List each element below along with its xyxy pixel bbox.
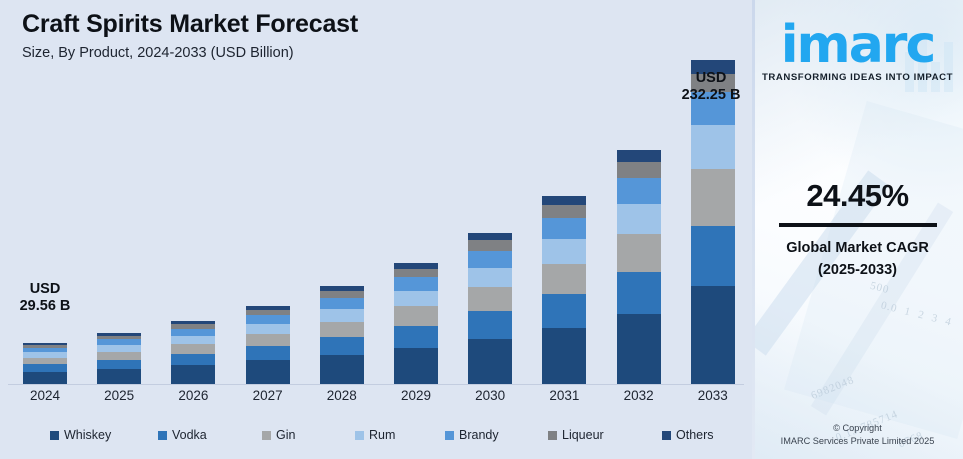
first-bar-value-label: USD 29.56 B [0, 281, 93, 315]
bar-2029[interactable] [394, 263, 438, 384]
bar-segment-whiskey[interactable] [320, 355, 364, 384]
legend-label-brandy: Brandy [459, 428, 499, 442]
bar-segment-rum[interactable] [691, 125, 735, 170]
bar-segment-vodka[interactable] [394, 326, 438, 348]
legend-swatch-gin [262, 431, 271, 440]
bar-segment-vodka[interactable] [171, 354, 215, 365]
bar-segment-gin[interactable] [468, 287, 512, 311]
legend-item-gin[interactable]: Gin [262, 428, 295, 442]
page-subtitle: Size, By Product, 2024-2033 (USD Billion… [22, 45, 294, 61]
copyright-line-1: © Copyright [752, 422, 963, 435]
chart-panel: Craft Spirits Market Forecast Size, By P… [0, 0, 752, 459]
legend-label-rum: Rum [369, 428, 395, 442]
bar-segment-whiskey[interactable] [394, 348, 438, 384]
bar-2030[interactable] [468, 233, 512, 384]
bar-segment-rum[interactable] [468, 268, 512, 288]
bar-segment-liqueur[interactable] [468, 240, 512, 251]
bar-segment-whiskey[interactable] [691, 286, 735, 384]
legend-item-rum[interactable]: Rum [355, 428, 395, 442]
bar-segment-whiskey[interactable] [171, 365, 215, 384]
legend-item-liqueur[interactable]: Liqueur [548, 428, 604, 442]
brand-panel: 500 0.0 1 2 3 4 6982048 0.15 785714 0768… [752, 0, 963, 459]
bar-segment-vodka[interactable] [23, 364, 67, 371]
bar-segment-gin[interactable] [691, 169, 735, 226]
bar-segment-liqueur[interactable] [617, 162, 661, 178]
bar-segment-whiskey[interactable] [468, 339, 512, 384]
bar-segment-gin[interactable] [542, 264, 586, 294]
plot-area: USD 29.56 B USD 232.25 B [0, 60, 752, 385]
bar-segment-brandy[interactable] [171, 329, 215, 336]
bar-segment-vodka[interactable] [320, 337, 364, 355]
legend-swatch-others [662, 431, 671, 440]
bar-segment-gin[interactable] [23, 358, 67, 365]
bar-segment-rum[interactable] [542, 239, 586, 263]
bar-2032[interactable] [617, 150, 661, 384]
bar-segment-vodka[interactable] [542, 294, 586, 328]
bar-segment-gin[interactable] [617, 234, 661, 271]
bar-segment-gin[interactable] [171, 344, 215, 354]
legend-label-others: Others [676, 428, 714, 442]
bar-2027[interactable] [246, 306, 290, 384]
bar-2024[interactable] [23, 343, 67, 384]
legend-swatch-liqueur [548, 431, 557, 440]
bar-segment-brandy[interactable] [320, 298, 364, 309]
bar-segment-gin[interactable] [320, 322, 364, 338]
bar-segment-vodka[interactable] [97, 360, 141, 369]
chart-legend: WhiskeyVodkaGinRumBrandyLiqueurOthers [0, 428, 752, 452]
x-axis-tick-2033: 2033 [665, 388, 761, 403]
legend-label-liqueur: Liqueur [562, 428, 604, 442]
bar-segment-vodka[interactable] [246, 346, 290, 360]
bar-segment-rum[interactable] [246, 324, 290, 334]
legend-label-vodka: Vodka [172, 428, 207, 442]
bar-segment-whiskey[interactable] [97, 369, 141, 384]
bar-segment-whiskey[interactable] [246, 360, 290, 384]
cagr-label: Global Market CAGR [752, 237, 963, 259]
bar-segment-rum[interactable] [394, 291, 438, 307]
imarc-logo: imarc TRANSFORMING IDEAS INTO IMPACT [752, 20, 963, 83]
bar-2033[interactable] [691, 60, 735, 384]
bar-2028[interactable] [320, 286, 364, 384]
bar-segment-vodka[interactable] [617, 272, 661, 314]
bar-segment-liqueur[interactable] [394, 269, 438, 278]
bar-segment-brandy[interactable] [468, 251, 512, 268]
bar-segment-gin[interactable] [394, 306, 438, 325]
bar-segment-whiskey[interactable] [23, 372, 67, 384]
cagr-period: (2025-2033) [752, 259, 963, 281]
legend-item-brandy[interactable]: Brandy [445, 428, 499, 442]
bar-segment-brandy[interactable] [617, 178, 661, 204]
bar-segment-rum[interactable] [171, 336, 215, 344]
bar-segment-others[interactable] [542, 196, 586, 205]
bar-2026[interactable] [171, 321, 215, 384]
legend-swatch-rum [355, 431, 364, 440]
x-axis: 2024202520262027202820292030203120322033 [0, 386, 752, 412]
bar-segment-others[interactable] [617, 150, 661, 162]
logo-wordmark: imarc [781, 20, 935, 70]
axis-baseline [8, 384, 744, 385]
legend-swatch-brandy [445, 431, 454, 440]
bar-2031[interactable] [542, 196, 586, 384]
cagr-block: 24.45% Global Market CAGR (2025-2033) [752, 178, 963, 281]
bar-segment-rum[interactable] [97, 345, 141, 352]
legend-label-whiskey: Whiskey [64, 428, 111, 442]
legend-item-others[interactable]: Others [662, 428, 714, 442]
bar-segment-liqueur[interactable] [542, 205, 586, 218]
bar-2025[interactable] [97, 333, 141, 384]
bar-segment-brandy[interactable] [542, 218, 586, 239]
bar-segment-gin[interactable] [246, 334, 290, 347]
legend-item-whiskey[interactable]: Whiskey [50, 428, 111, 442]
bar-segment-vodka[interactable] [691, 226, 735, 286]
bar-segment-brandy[interactable] [394, 277, 438, 290]
page-title: Craft Spirits Market Forecast [22, 10, 358, 39]
cagr-divider [779, 223, 937, 227]
legend-label-gin: Gin [276, 428, 295, 442]
bar-segment-others[interactable] [468, 233, 512, 241]
bar-segment-whiskey[interactable] [542, 328, 586, 384]
legend-item-vodka[interactable]: Vodka [158, 428, 207, 442]
bar-segment-vodka[interactable] [468, 311, 512, 338]
bar-segment-rum[interactable] [617, 204, 661, 234]
bar-segment-whiskey[interactable] [617, 314, 661, 384]
cagr-value: 24.45% [752, 178, 963, 214]
legend-swatch-vodka [158, 431, 167, 440]
bar-segment-rum[interactable] [320, 309, 364, 322]
copyright-line-2: IMARC Services Private Limited 2025 [752, 435, 963, 448]
bar-segment-liqueur[interactable] [320, 291, 364, 298]
copyright-notice: © Copyright IMARC Services Private Limit… [752, 422, 963, 448]
bar-segment-brandy[interactable] [246, 315, 290, 324]
legend-swatch-whiskey [50, 431, 59, 440]
last-bar-value-label: USD 232.25 B [663, 70, 759, 104]
bar-segment-gin[interactable] [97, 352, 141, 360]
